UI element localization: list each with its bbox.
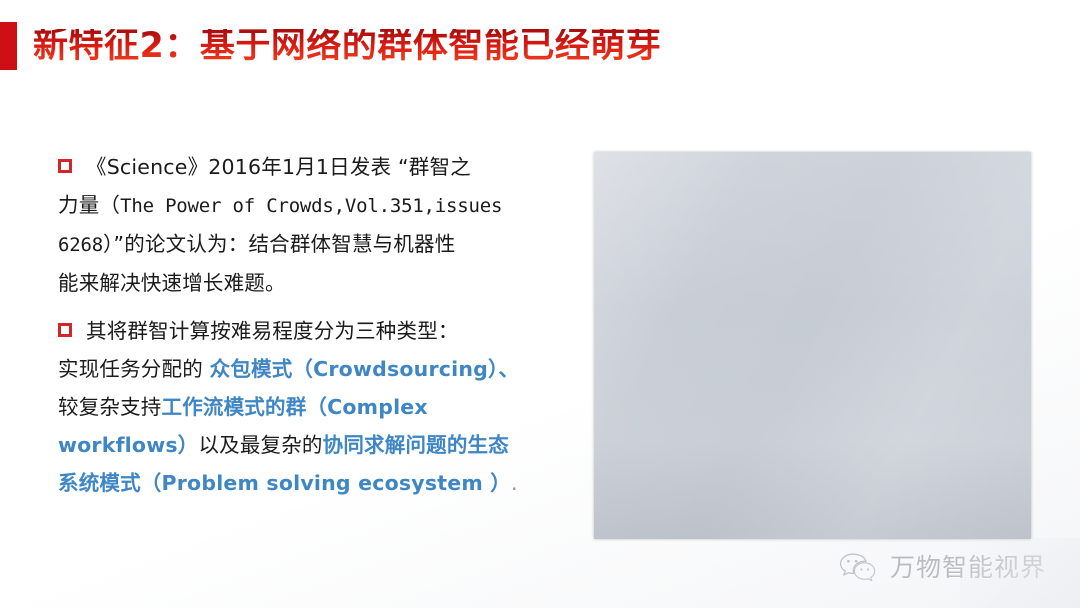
term-crowdsourcing: 众包模式（Crowdsourcing） (210, 357, 499, 381)
text-line-8b: 以及最复杂的 (198, 433, 322, 457)
slide-canvas: 新特征2：基于网络的群体智能已经萌芽 《Science》2016年1月1日发表 … (0, 0, 1080, 608)
text-line-7a: 较复杂支持 (58, 395, 162, 419)
body-text-lines (889, 230, 1017, 285)
text-line-3b: ）”的论文认为：结合群体智慧与机器性 (103, 232, 455, 256)
text-line-2a: 力量（ (58, 193, 120, 217)
bullet-paragraph-2: 其将群智计算按难易程度分为三种类型： 实现任务分配的 众包模式（Crowdsou… (58, 312, 586, 502)
term-ecosystem: 协同求解问题的生态 (323, 433, 509, 457)
text-line-6a: 实现任务分配的 (58, 357, 210, 381)
text-line-6c: 、 (498, 357, 519, 381)
body-text-lines (608, 230, 736, 267)
article-column-2 (742, 230, 876, 288)
watermark: 万物智能视界 (838, 548, 1046, 584)
text-line-3-mono: 6268 (58, 234, 103, 256)
text-line-1c: “群智之 (398, 155, 471, 179)
text-line-1a: 《Science》 (86, 155, 208, 179)
article-column-3 (883, 230, 1017, 288)
wechat-icon (838, 551, 878, 581)
figure-side-text-right (925, 322, 1017, 466)
hex-node-worker (689, 373, 719, 392)
figure-section-c-label: Problem-solving ecosystem (675, 493, 751, 499)
title-accent-bar (0, 22, 17, 70)
watermark-text: 万物智能视界 (890, 548, 1046, 584)
figure-bottom-rule (669, 512, 918, 516)
text-line-4: 能来解决快速增长难题。 (58, 271, 286, 295)
term-workflows-cont: workflows） (58, 433, 198, 457)
article-standfirst: Combining humans and machines can help t… (608, 206, 1017, 215)
figure-section-a-label: Microtasking (675, 321, 711, 327)
magazine-page: HUMAN COMPUTATION The power of crowds Co… (600, 166, 1025, 533)
bullet-paragraph-1: 《Science》2016年1月1日发表 “群智之 力量（The Power o… (58, 148, 586, 302)
hex-node-requester (687, 447, 709, 462)
body-content: 《Science》2016年1月1日发表 “群智之 力量（The Power o… (58, 148, 586, 502)
term-problem-solving: 系统模式（Problem solving ecosystem ） (58, 471, 511, 495)
bullet-marker-icon (58, 159, 72, 173)
text-line-1b: 2016年1月1日发表 (208, 155, 398, 179)
photo-top-edge: Science (594, 152, 1031, 166)
body-text-lines (748, 230, 876, 267)
article-columns: H (608, 230, 1017, 288)
crowd-computing-figure: Microtasking (668, 316, 919, 519)
figure-side-text-left (608, 322, 660, 459)
hex-node-manager (803, 457, 825, 472)
article-kicker: HUMAN COMPUTATION (608, 172, 1017, 179)
term-complex-workflows: 工作流模式的群（Complex (162, 395, 428, 419)
text-line-5: 其将群智计算按难易程度分为三种类型： (86, 319, 459, 343)
science-article-photo: Science HUMAN COMPUTATION The power of c… (594, 152, 1031, 539)
text-line-2-mono: The Power of Crowds,Vol.351,issues (120, 195, 502, 217)
hex-node-crowd (689, 347, 719, 366)
slide-title-row: 新特征2：基于网络的群体智能已经萌芽 (0, 20, 661, 72)
article-column-1: H (608, 230, 736, 288)
figure-section-b-label: Macrotasks (675, 417, 707, 423)
page-title: 新特征2：基于网络的群体智能已经萌芽 (33, 29, 661, 64)
article-byline: By Pietro Michelucci and Janis L. Dickin… (608, 220, 1017, 227)
bullet-marker-icon (58, 323, 72, 337)
text-line-9b: . (511, 471, 518, 495)
article-headline: The power of crowds (608, 180, 1017, 203)
